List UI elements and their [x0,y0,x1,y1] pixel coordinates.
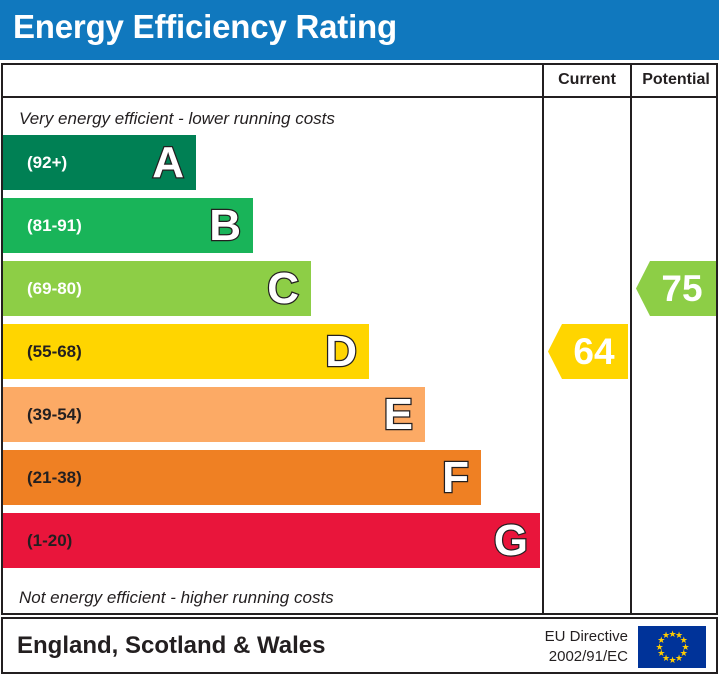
band-range-g: (1-20) [27,531,72,551]
band-range-e: (39-54) [27,405,82,425]
column-divider-current [542,65,544,613]
band-f: (21-38)F [3,450,481,505]
rating-value-current: 64 [573,333,614,370]
band-range-d: (55-68) [27,342,82,362]
column-divider-potential [630,65,632,613]
band-range-c: (69-80) [27,279,82,299]
energy-efficiency-rating-chart: Energy Efficiency Rating Current Potenti… [0,0,719,675]
band-b: (81-91)B [3,198,253,253]
page-title: Energy Efficiency Rating [13,8,397,46]
directive-line-1: EU Directive [508,627,628,647]
rating-bands: (92+)A(81-91)B(69-80)C(55-68)D(39-54)E(2… [3,65,540,613]
column-header-current: Current [544,71,630,89]
band-range-b: (81-91) [27,216,82,236]
band-d: (55-68)D [3,324,369,379]
band-letter-c: C [267,267,299,311]
band-letter-f: F [442,456,469,500]
band-letter-d: D [325,330,357,374]
band-range-f: (21-38) [27,468,82,488]
band-a: (92+)A [3,135,196,190]
band-letter-e: E [384,393,413,437]
footer-directive: EU Directive 2002/91/EC [508,627,628,668]
band-range-a: (92+) [27,153,67,173]
band-letter-a: A [152,141,184,185]
band-c: (69-80)C [3,261,311,316]
eu-star: ★ [662,632,669,639]
band-e: (39-54)E [3,387,425,442]
chart-footer: England, Scotland & Wales EU Directive 2… [1,617,718,674]
band-letter-g: G [494,519,528,563]
chart-body: Current Potential Very energy efficient … [1,63,718,615]
eu-flag-icon: ★★★★★★★★★★★★ [638,626,706,668]
rating-value-potential: 75 [661,270,702,307]
band-letter-b: B [209,204,241,248]
band-g: (1-20)G [3,513,540,568]
chart-title-bar: Energy Efficiency Rating [0,0,719,60]
column-header-potential: Potential [632,71,719,89]
footer-region-label: England, Scotland & Wales [17,632,325,660]
rating-potential: 75 [636,261,716,316]
directive-line-2: 2002/91/EC [508,647,628,667]
rating-current: 64 [548,324,628,379]
